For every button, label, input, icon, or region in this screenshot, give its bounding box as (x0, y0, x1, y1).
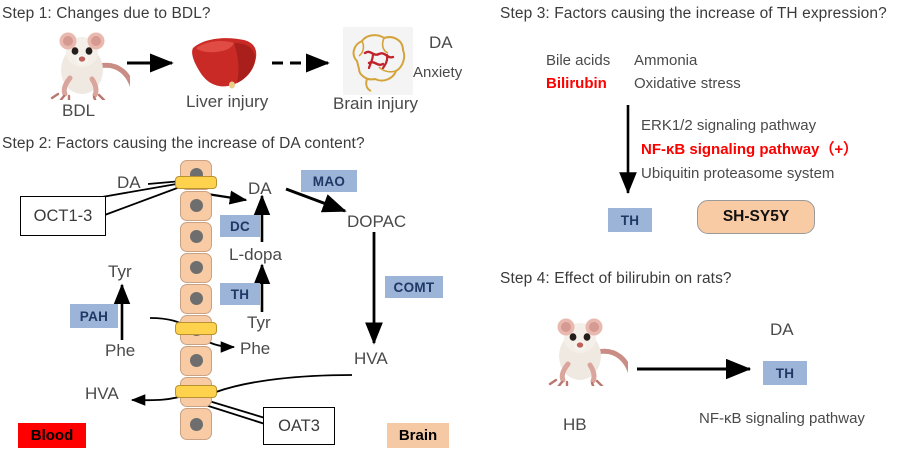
brain-image (343, 27, 413, 95)
label-ldopa: L-dopa (229, 245, 282, 265)
label-dopac: DOPAC (347, 212, 406, 232)
factor-item: Bilirubin (546, 72, 610, 95)
factor-item: Bile acids (546, 49, 610, 72)
compartment-tag-blood: Blood (18, 423, 86, 448)
label-hva-blood: HVA (85, 384, 119, 404)
cell-nucleus (190, 354, 203, 367)
enzyme-chip-th-step4[interactable]: TH (763, 361, 807, 385)
step1-title: Step 1: Changes due to BDL? (2, 5, 211, 23)
step2-title: Step 2: Factors causing the increase of … (2, 135, 365, 153)
brain-anxiety-label: Anxiety (413, 64, 462, 81)
enzyme-chip-pah[interactable]: PAH (70, 304, 118, 328)
cell-nucleus (190, 199, 203, 212)
cell-nucleus (190, 292, 203, 305)
label-da-step4: DA (770, 320, 794, 340)
step3-pathways: ERK1/2 signaling pathway NF-κB signaling… (641, 114, 858, 186)
label-hva-brain: HVA (354, 349, 388, 369)
label-pathway-step4: NF-κB signaling pathway (699, 410, 865, 427)
cell-nucleus (190, 261, 203, 274)
pathway-item: Ubiquitin proteasome system (641, 162, 858, 186)
step3-factors-col2: Ammonia Oxidative stress (634, 49, 741, 95)
leader-oct-lower (102, 184, 188, 216)
rat-image-hb (540, 308, 628, 386)
factor-item: Oxidative stress (634, 72, 741, 95)
label-da-brain: DA (248, 179, 272, 199)
brain-da-label: DA (429, 33, 453, 53)
pathway-item: ERK1/2 signaling pathway (641, 114, 858, 138)
brain-injury-label: Brain injury (333, 94, 418, 114)
cell-nucleus (190, 418, 203, 431)
liver-label: Liver injury (186, 92, 268, 112)
arrow-da-to-dopac (286, 189, 345, 211)
liver-image (188, 34, 260, 92)
transporter-oat-bar[interactable] (175, 385, 217, 398)
callout-oat3[interactable]: OAT3 (263, 407, 335, 445)
rat-label-bdl: BDL (62, 101, 95, 121)
enzyme-chip-th[interactable]: TH (220, 283, 260, 305)
enzyme-chip-comt[interactable]: COMT (385, 276, 443, 298)
cell-column (180, 160, 212, 445)
step4-title: Step 4: Effect of bilirubin on rats? (500, 270, 732, 288)
arrow-transporter-to-da (207, 194, 246, 200)
label-phe-brain: Phe (240, 339, 270, 359)
label-phe-blood: Phe (105, 341, 135, 361)
transporter-lat-bar[interactable] (175, 322, 217, 335)
rat-label-hb: HB (563, 415, 587, 435)
pathway-item: NF-κB signaling pathway（+） (641, 138, 858, 162)
compartment-tag-brain: Brain (387, 423, 449, 448)
cell-nucleus (190, 230, 203, 243)
label-tyr-blood: Tyr (108, 262, 132, 282)
curve-hva-in (216, 375, 352, 392)
enzyme-chip-mao[interactable]: MAO (301, 170, 357, 192)
rat-image-bdl (42, 22, 130, 100)
step3-factors-col1: Bile acids Bilirubin (546, 49, 610, 95)
label-tyr-brain: Tyr (247, 313, 271, 333)
label-da-blood: DA (117, 173, 141, 193)
step3-title: Step 3: Factors causing the increase of … (500, 5, 887, 23)
transporter-oct-bar[interactable] (175, 176, 217, 189)
callout-oct1-3[interactable]: OCT1-3 (20, 196, 106, 236)
enzyme-chip-dc[interactable]: DC (220, 215, 260, 237)
cell-line-tag-shsy5y: SH-SY5Y (697, 200, 815, 234)
enzyme-chip-th-step3[interactable]: TH (608, 208, 652, 232)
factor-item: Ammonia (634, 49, 741, 72)
